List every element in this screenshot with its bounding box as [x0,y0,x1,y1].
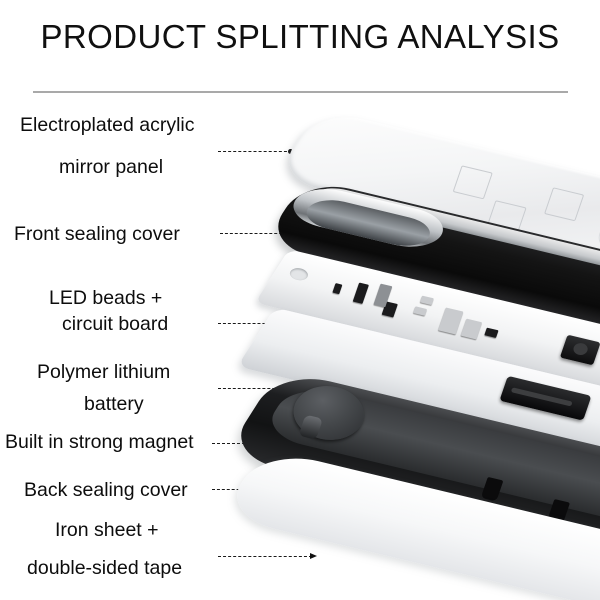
label-iron-sheet-line1: Iron sheet + [55,518,159,542]
battery-connector [499,376,591,421]
led-bead [461,319,482,340]
title-divider [33,91,568,93]
label-iron-sheet-line2: double-sided tape [27,556,182,580]
touch-square-icon [544,187,584,221]
page-title: PRODUCT SPLITTING ANALYSIS [0,18,600,56]
exploded-product-illustration [250,96,600,596]
smd-component [484,328,498,338]
label-back-cover: Back sealing cover [24,478,188,502]
label-battery-line2: battery [84,392,144,416]
label-led-board-line1: LED beads + [49,286,162,310]
mounting-hole [288,266,309,282]
label-led-board-line2: circuit board [62,312,168,336]
label-battery-line1: Polymer lithium [37,360,170,384]
label-mirror-panel-line2: mirror panel [59,155,163,179]
label-mirror-panel-line1: Electroplated acrylic [20,113,195,137]
touch-square-icon [453,165,493,199]
smd-component [332,283,342,294]
smd-component [353,283,369,304]
poster-canvas: PRODUCT SPLITTING ANALYSIS Electroplated… [0,0,600,600]
tactile-switch [560,335,600,366]
smd-component [420,296,434,305]
led-bead [438,307,463,334]
smd-component [413,306,427,315]
label-front-cover: Front sealing cover [14,222,180,246]
label-magnet: Built in strong magnet [5,430,194,454]
